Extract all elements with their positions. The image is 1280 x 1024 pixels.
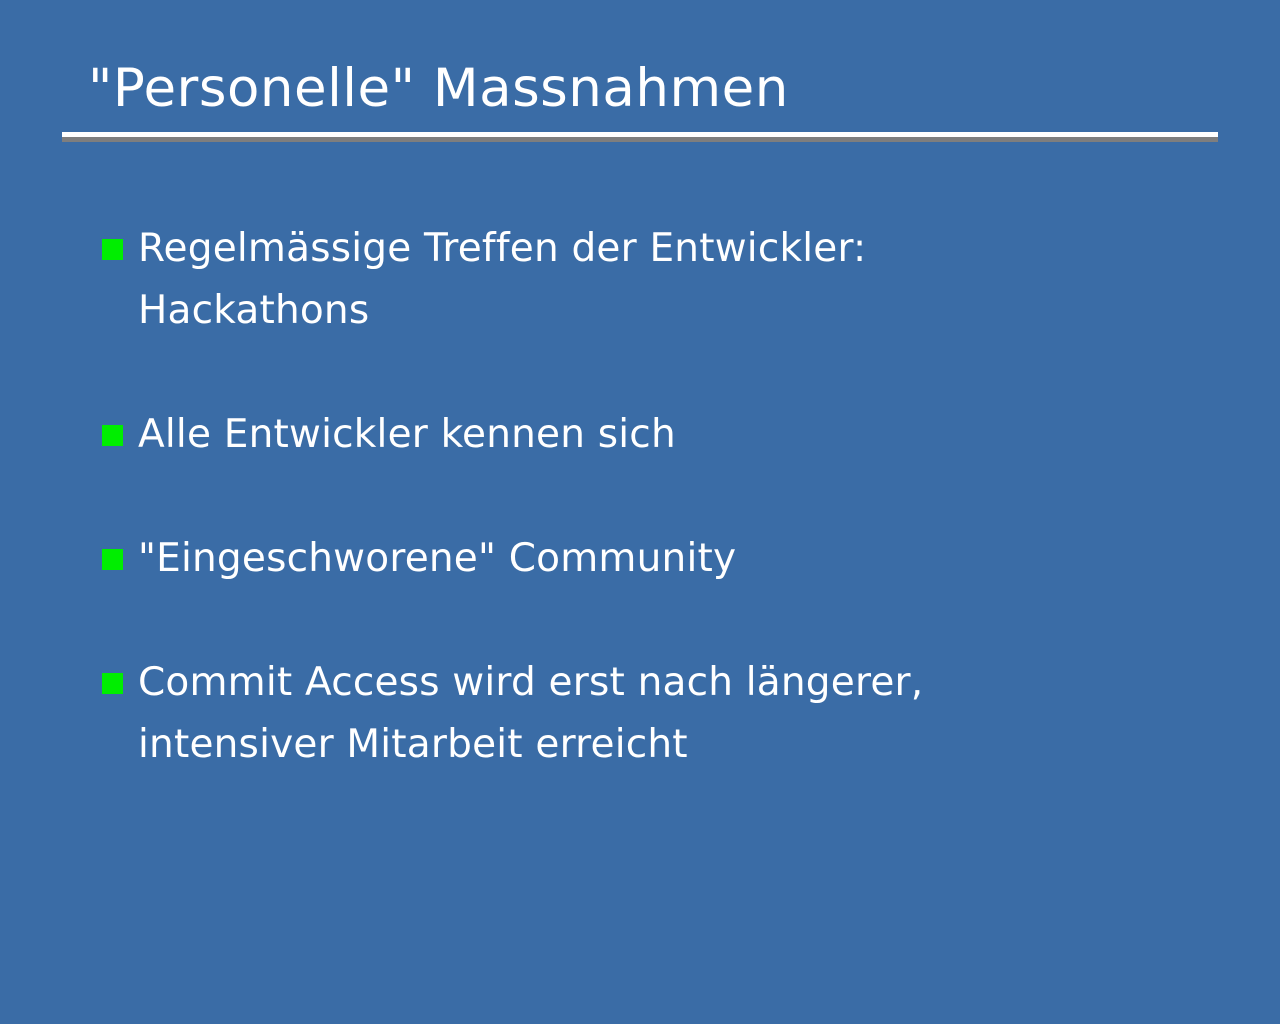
list-item-label: Alle Entwickler kennen sich (138, 412, 676, 457)
slide-title-block: "Personelle" Massnahmen (62, 52, 1218, 141)
square-bullet-icon (102, 425, 123, 446)
title-divider-shadow (62, 137, 1218, 142)
square-bullet-icon (102, 239, 123, 260)
bullet-list: Regelmässige Treffen der Entwickler: Hac… (102, 218, 1162, 776)
list-item: "Eingeschworene" Community (102, 528, 1162, 590)
square-bullet-icon (102, 673, 123, 694)
presentation-slide: "Personelle" Massnahmen Regelmässige Tre… (0, 0, 1280, 1024)
page-title: "Personelle" Massnahmen (62, 52, 1218, 126)
list-item-label: Commit Access wird erst nach längerer, i… (138, 660, 923, 767)
list-item: Regelmässige Treffen der Entwickler: Hac… (102, 218, 1162, 342)
list-item: Commit Access wird erst nach längerer, i… (102, 652, 1162, 776)
list-item: Alle Entwickler kennen sich (102, 404, 1162, 466)
list-item-label: Regelmässige Treffen der Entwickler: Hac… (138, 226, 866, 333)
title-divider (62, 132, 1218, 141)
list-item-label: "Eingeschworene" Community (138, 536, 736, 581)
square-bullet-icon (102, 549, 123, 570)
